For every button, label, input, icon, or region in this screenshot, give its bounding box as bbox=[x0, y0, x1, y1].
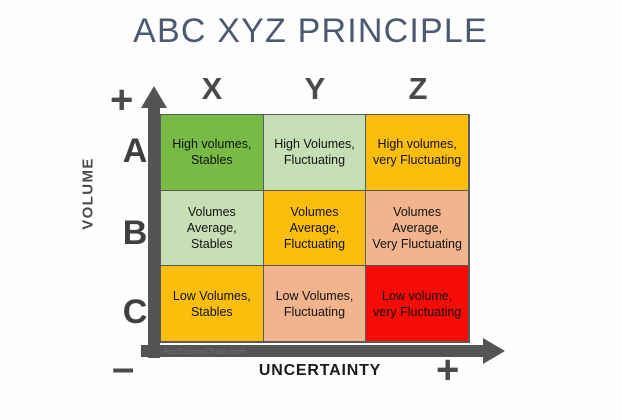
column-header-x: X bbox=[160, 72, 264, 106]
matrix-cell-text-line: very Fluctuating bbox=[373, 304, 461, 320]
abc-xyz-matrix: High volumes,StablesHigh Volumes,Fluctua… bbox=[160, 114, 470, 343]
matrix-cell-text-line: Stables bbox=[173, 304, 251, 320]
matrix-cell-bx[interactable]: VolumesAverage, Stables bbox=[160, 190, 264, 267]
matrix-cell-ay[interactable]: High Volumes,Fluctuating bbox=[263, 114, 367, 191]
matrix-cell-text-line: Fluctuating bbox=[274, 152, 355, 168]
matrix-cell-text-line: Volumes bbox=[284, 204, 345, 220]
x-axis-title: UNCERTAINTY bbox=[200, 362, 440, 380]
matrix-cell-text-line: Low Volumes, bbox=[173, 288, 251, 304]
column-header-y: Y bbox=[263, 72, 367, 106]
matrix-cell-text-line: Fluctuating bbox=[276, 304, 354, 320]
column-header-z: Z bbox=[366, 72, 470, 106]
volume-plus-sign: + bbox=[110, 80, 133, 120]
matrix-cell-cx[interactable]: Low Volumes,Stables bbox=[160, 265, 264, 342]
matrix-cell-az[interactable]: High volumes,very Fluctuating bbox=[365, 114, 469, 191]
matrix-cell-text-line: very Fluctuating bbox=[373, 152, 461, 168]
matrix-cell-text-line: Volumes bbox=[165, 204, 259, 220]
row-header-a: A bbox=[118, 132, 152, 171]
y-axis-title: VOLUME bbox=[80, 104, 97, 284]
matrix-cell-text-line: Average, bbox=[372, 220, 462, 236]
matrix-cell-by[interactable]: VolumesAverage,Fluctuating bbox=[263, 190, 367, 267]
volume-minus-sign: – bbox=[112, 348, 134, 388]
matrix-cell-text-line: Stables bbox=[172, 152, 251, 168]
matrix-cell-ax[interactable]: High volumes,Stables bbox=[160, 114, 264, 191]
uncertainty-plus-sign: + bbox=[436, 350, 459, 390]
matrix-cell-text-line: Low volume, bbox=[373, 288, 461, 304]
row-header-b: B bbox=[118, 214, 152, 253]
matrix-cell-cz[interactable]: Low volume,very Fluctuating bbox=[365, 265, 469, 342]
matrix-cell-text-line: High Volumes, bbox=[274, 136, 355, 152]
matrix-cell-text-line: High volumes, bbox=[373, 136, 461, 152]
matrix-cell-text-line: Fluctuating bbox=[284, 236, 345, 252]
matrix-cell-text-line: High volumes, bbox=[172, 136, 251, 152]
matrix-cell-text-line: Average, bbox=[284, 220, 345, 236]
matrix-cell-text-line: Low Volumes, bbox=[276, 288, 354, 304]
watermark-label: AbcSupplyChain.com bbox=[163, 346, 246, 356]
matrix-cell-text-line: Volumes bbox=[372, 204, 462, 220]
matrix-cell-bz[interactable]: VolumesAverage,Very Fluctuating bbox=[365, 190, 469, 267]
matrix-cell-text-line: Very Fluctuating bbox=[372, 236, 462, 252]
row-header-c: C bbox=[118, 293, 152, 332]
matrix-cell-cy[interactable]: Low Volumes,Fluctuating bbox=[263, 265, 367, 342]
matrix-cell-text-line: Average, Stables bbox=[165, 220, 259, 252]
page-title: ABC XYZ PRINCIPLE bbox=[0, 12, 621, 51]
